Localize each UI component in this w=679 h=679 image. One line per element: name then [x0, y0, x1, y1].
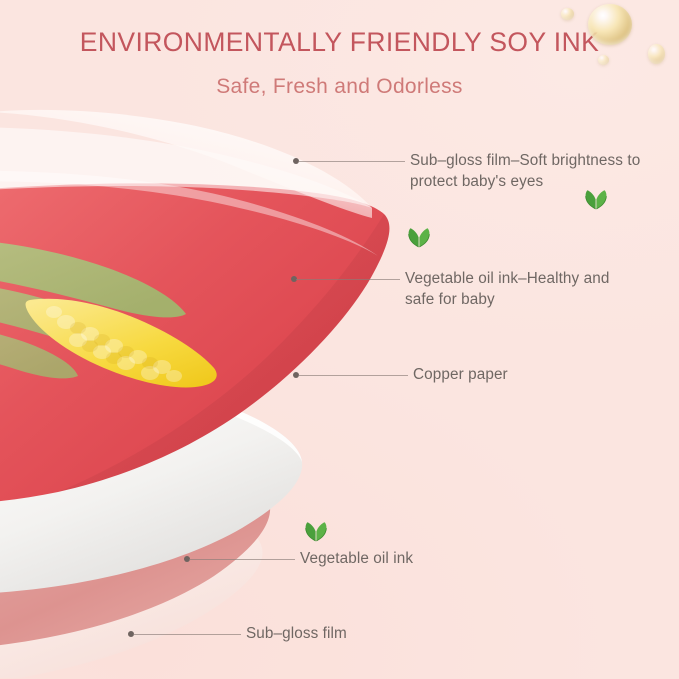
callout-leader-line — [298, 161, 405, 162]
callout-leader-line — [298, 375, 408, 376]
oil-droplet-icon — [561, 8, 574, 20]
oil-droplet-icon — [598, 55, 609, 65]
callout-label: Sub–gloss film — [246, 623, 466, 644]
callout-leader-line — [133, 634, 241, 635]
layered-paper-illustration — [0, 0, 679, 679]
callout-label: Sub–gloss film–Soft brightness to protec… — [410, 150, 660, 192]
oil-droplet-icon — [588, 4, 632, 45]
page-title: ENVIRONMENTALLY FRIENDLY SOY INK — [0, 27, 679, 58]
callout-label: Copper paper — [413, 364, 613, 385]
callout-leader-line — [296, 279, 400, 280]
infographic-page: ENVIRONMENTALLY FRIENDLY SOY INK Safe, F… — [0, 0, 679, 679]
oil-droplet-icon — [648, 44, 665, 64]
leaf-sprout-icon — [303, 518, 329, 549]
page-subtitle: Safe, Fresh and Odorless — [0, 75, 679, 99]
callout-label: Vegetable oil ink–Healthy and safe for b… — [405, 268, 645, 310]
callout-label: Vegetable oil ink — [300, 548, 520, 569]
callout-leader-line — [189, 559, 295, 560]
leaf-sprout-icon — [406, 224, 432, 255]
